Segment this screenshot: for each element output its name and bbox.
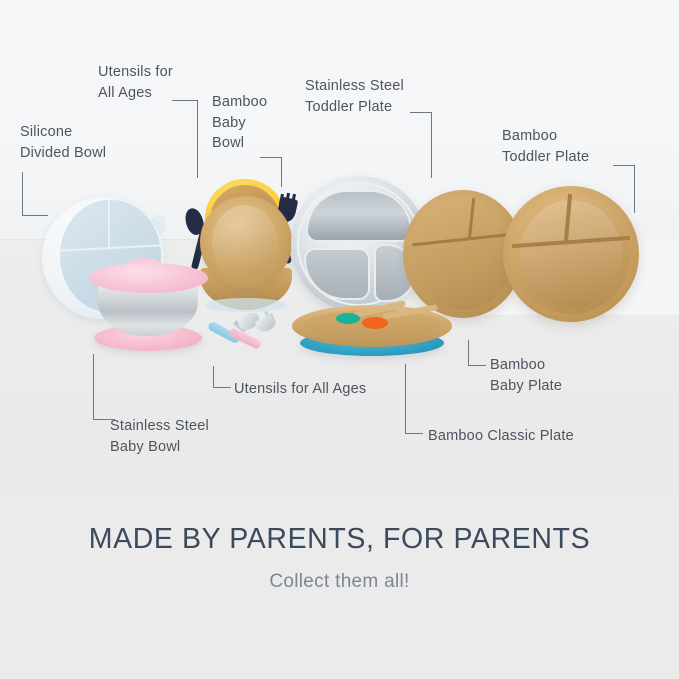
stainless-steel-baby-bowl-lid [89,263,208,293]
leader-bamboo-baby-plate [468,340,486,366]
infographic-canvas: Silicone Divided Bowl Utensils for All A… [0,0,679,679]
bamboo-baby-bowl-grain [212,205,278,279]
label-silicone-divided-bowl: Silicone Divided Bowl [20,122,190,163]
label-stainless-steel-toddler-plate: Stainless Steel Toddler Plate [305,76,465,117]
silicone-divided-bowl-divider-vertical [108,200,110,249]
leader-utensils-bottom [213,366,231,388]
label-bamboo-classic-plate: Bamboo Classic Plate [428,426,648,447]
footer-headline: MADE BY PARENTS, FOR PARENTS [0,523,679,556]
label-stainless-steel-baby-bowl: Stainless Steel Baby Bowl [110,416,290,457]
bamboo-spoon-teal-tip [336,313,360,324]
leader-stainless-baby-bowl [93,354,115,420]
stainless-steel-toddler-plate-compartment-top [306,190,412,242]
bamboo-baby-plate-well [412,198,514,310]
label-bamboo-baby-bowl: Bamboo Baby Bowl [212,92,302,154]
leader-stainless-toddler-plate [410,112,432,178]
bamboo-spoon-orange-tip [362,317,388,329]
label-bamboo-baby-plate: Bamboo Baby Plate [490,355,640,396]
bamboo-baby-bowl-suction-foot [205,298,287,312]
label-bamboo-toddler-plate: Bamboo Toddler Plate [502,126,662,167]
leader-bamboo-toddler-plate [613,165,635,213]
leader-silicone-divided-bowl [22,172,48,216]
label-utensils-for-all-ages-top: Utensils for All Ages [98,62,218,103]
bamboo-toddler-plate-grain [520,200,622,308]
label-utensils-for-all-ages-bottom: Utensils for All Ages [234,379,434,400]
leader-bamboo-baby-bowl [260,157,282,187]
footer-subline: Collect them all! [0,571,679,593]
